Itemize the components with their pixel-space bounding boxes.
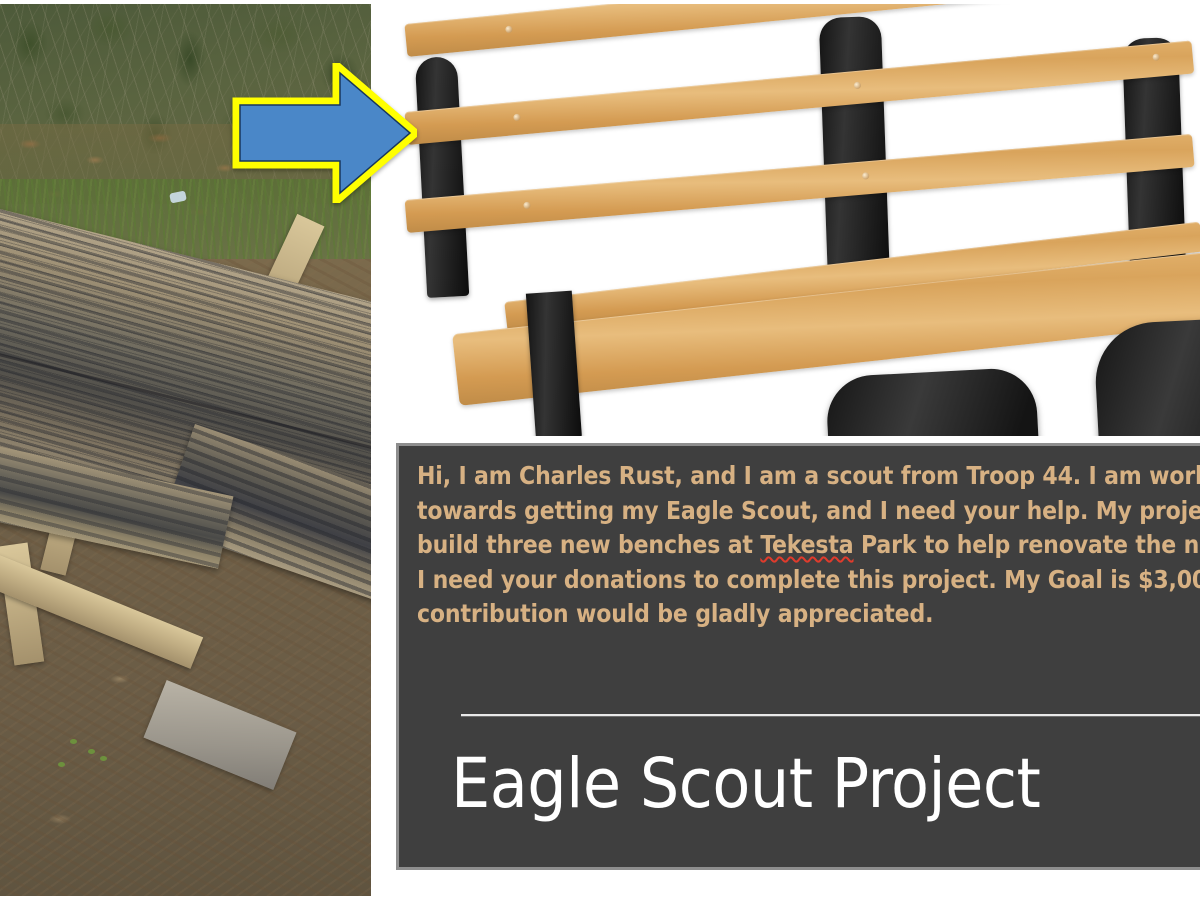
bench-backrest-slat — [405, 134, 1195, 233]
screw-icon — [505, 26, 513, 34]
bench-leg — [825, 367, 1041, 436]
bench-backrest-slat — [405, 40, 1195, 144]
bench-scene — [396, 4, 1200, 436]
slide-canvas: Hi, I am Charles Rust, and I am a scout … — [0, 0, 1200, 900]
grass-sprout — [100, 756, 107, 761]
bench-back-post — [415, 56, 470, 298]
bench-backrest-slat — [404, 4, 1193, 57]
slide-title: Eagle Scout Project — [451, 750, 1040, 819]
after-photo-new-bench — [396, 4, 1200, 436]
grass-sprout — [58, 762, 65, 767]
screw-icon — [862, 172, 870, 180]
screw-icon — [854, 82, 862, 90]
screw-icon — [523, 202, 531, 210]
title-divider — [461, 714, 1200, 716]
misspelled-word-tekesta[interactable]: Tekesta — [760, 530, 853, 559]
grass-sprout — [70, 739, 77, 744]
right-arrow-annotation — [232, 63, 417, 203]
text-panel: Hi, I am Charles Rust, and I am a scout … — [396, 443, 1200, 870]
grass-sprout — [88, 749, 95, 754]
text-panel-inner: Hi, I am Charles Rust, and I am a scout … — [399, 446, 1200, 867]
screw-icon — [513, 114, 521, 122]
project-description: Hi, I am Charles Rust, and I am a scout … — [417, 459, 1200, 632]
screw-icon — [1152, 53, 1160, 61]
